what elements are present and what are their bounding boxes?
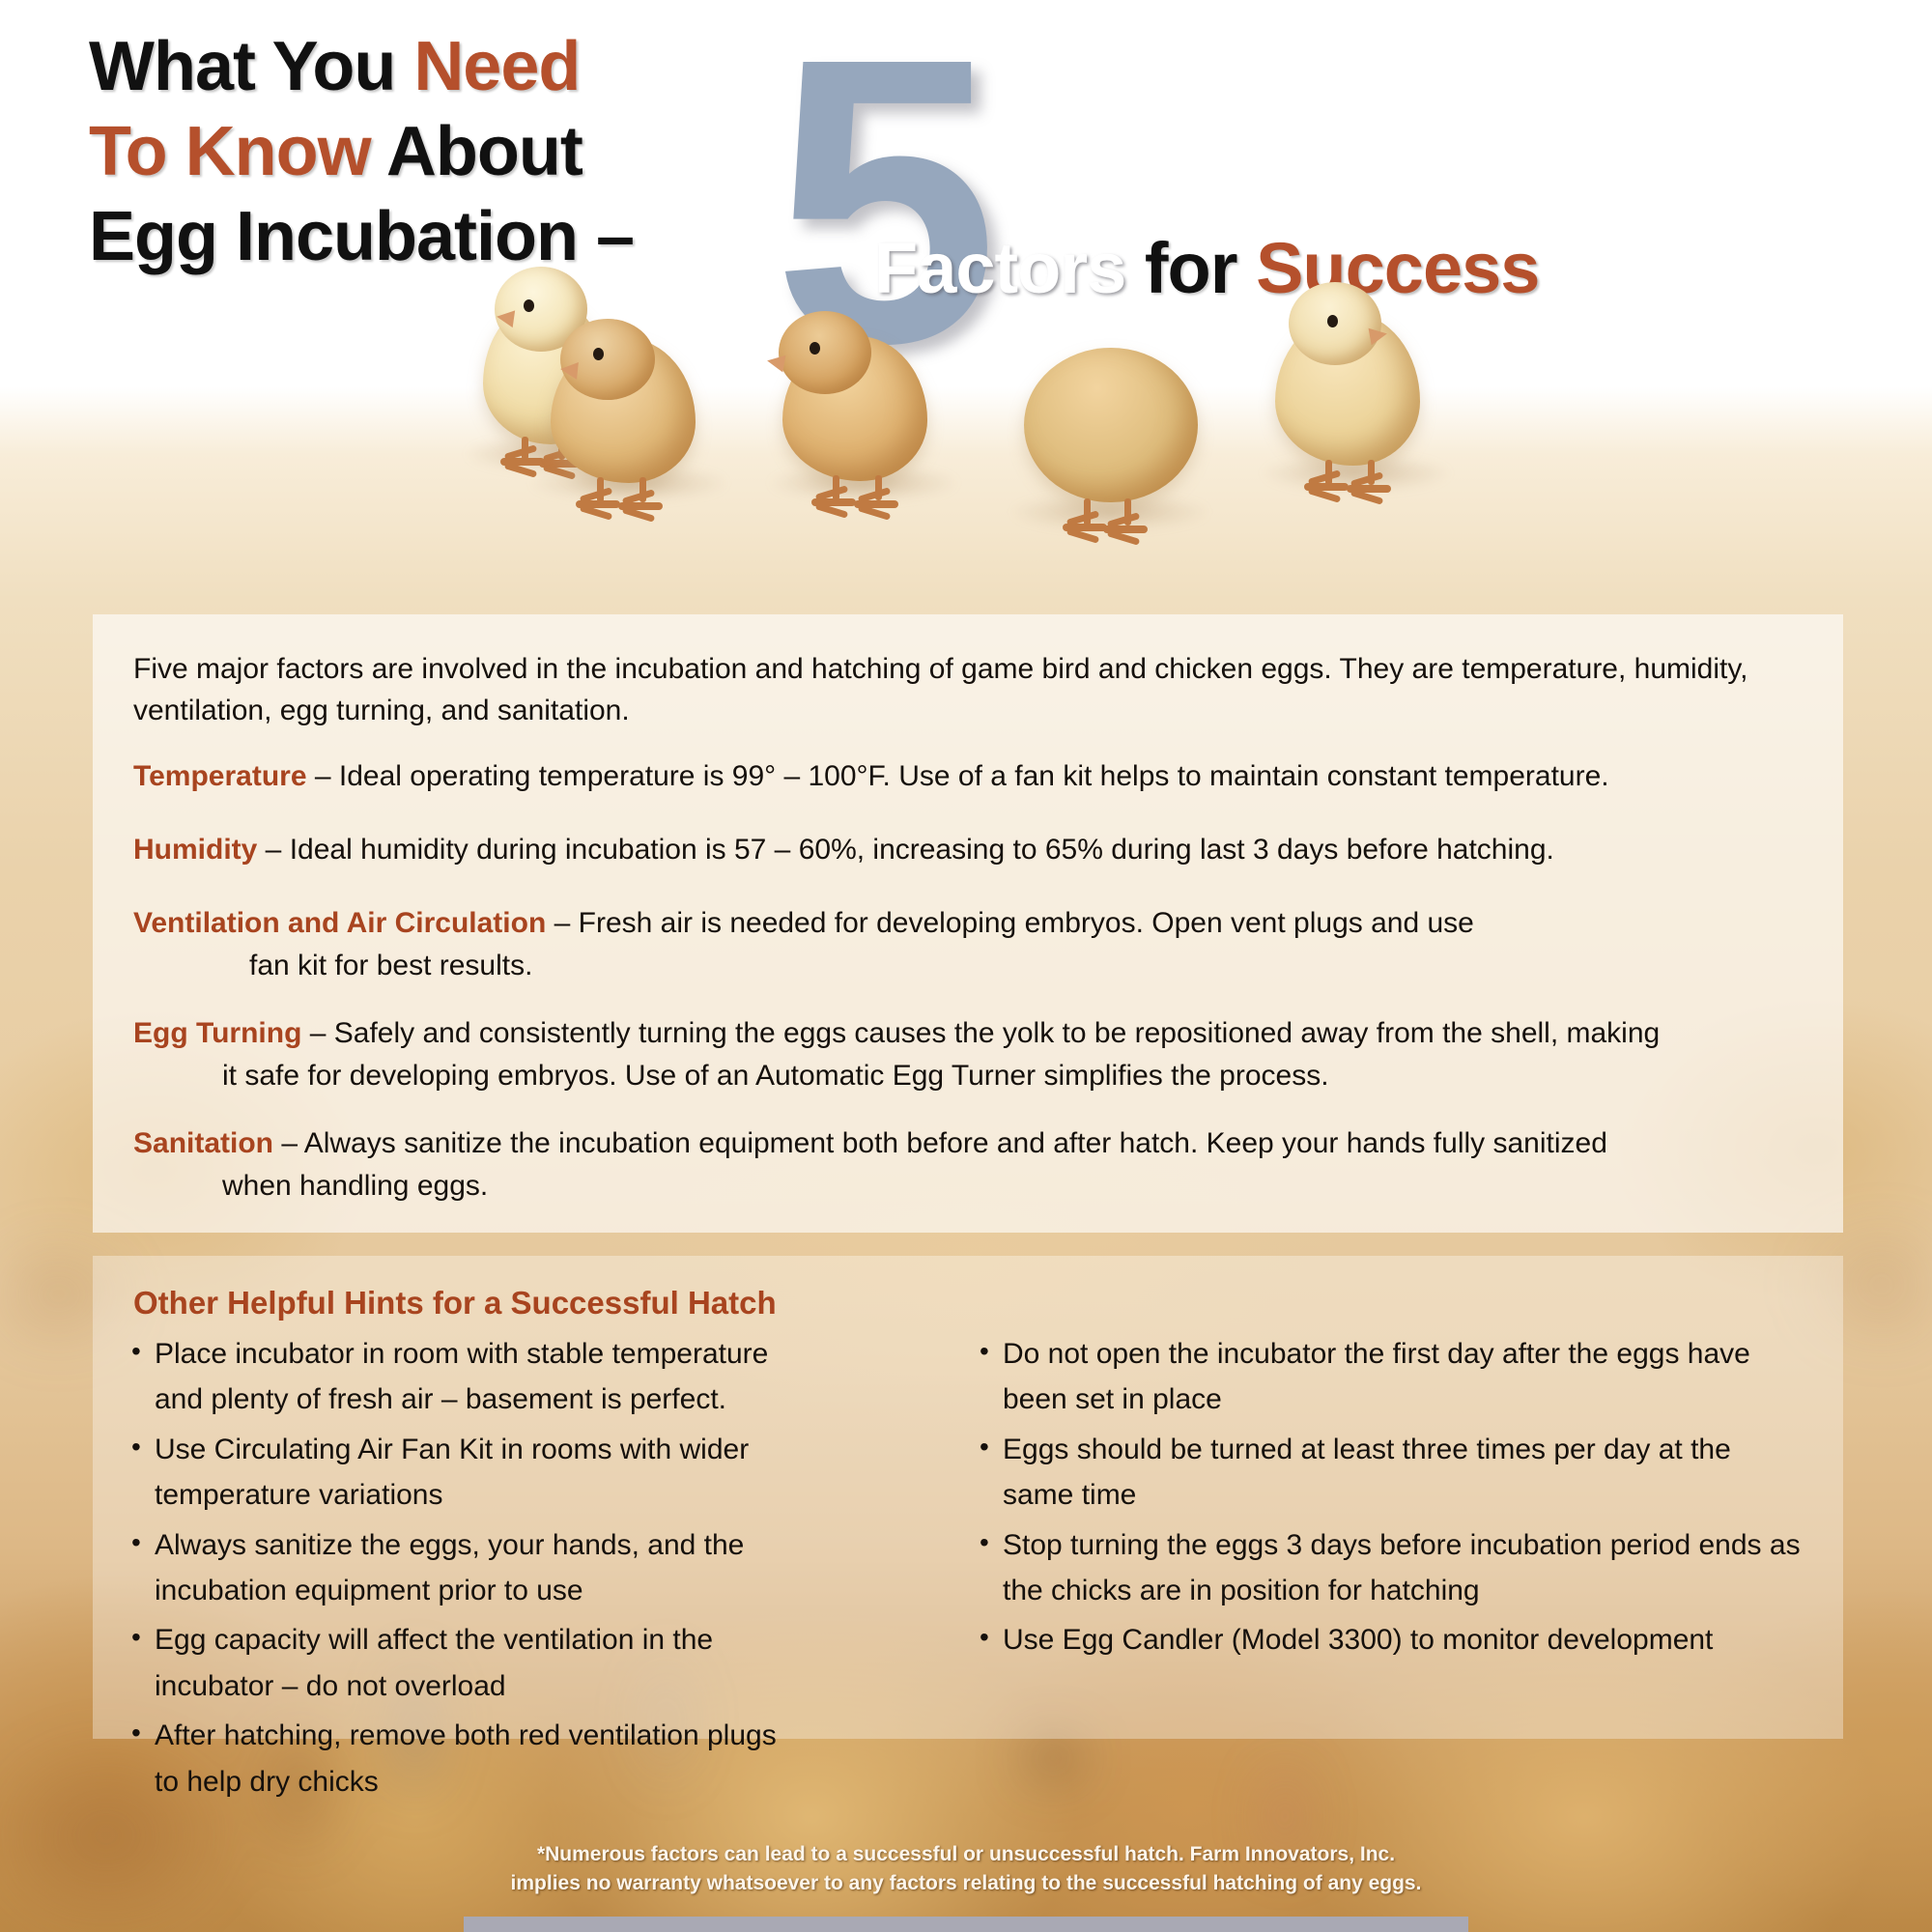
factor-temperature-text: Ideal operating temperature is 99° – 100… <box>339 760 1609 792</box>
list-item: Stop turning the eggs 3 days before incu… <box>978 1522 1808 1614</box>
list-item: Use Circulating Air Fan Kit in rooms wit… <box>129 1427 806 1519</box>
list-item: Egg capacity will affect the ventilation… <box>129 1617 806 1709</box>
footnote-disclaimer: *Numerous factors can lead to a successf… <box>0 1840 1932 1898</box>
factor-ventilation-text2: fan kit for best results. <box>133 945 1822 987</box>
bottom-bar <box>464 1917 1468 1932</box>
factor-ventilation-name: Ventilation and Air Circulation <box>133 907 546 939</box>
list-item: After hatching, remove both red ventilat… <box>129 1713 806 1804</box>
factor-egg-turning-text2: it safe for developing embryos. Use of a… <box>133 1055 1822 1097</box>
factor-temperature: Temperature – Ideal operating temperatur… <box>133 755 1822 798</box>
factor-egg-turning-dash: – <box>301 1017 333 1049</box>
factor-humidity-dash: – <box>257 834 289 866</box>
list-item: Eggs should be turned at least three tim… <box>978 1427 1808 1519</box>
list-item: Always sanitize the eggs, your hands, an… <box>129 1522 806 1614</box>
factor-sanitation-text2: when handling eggs. <box>133 1165 1822 1207</box>
factor-temperature-name: Temperature <box>133 760 307 792</box>
factor-egg-turning-text: Safely and consistently turning the eggs… <box>334 1017 1660 1049</box>
factor-sanitation-text: Always sanitize the incubation equipment… <box>304 1127 1607 1159</box>
poster-content: Five major factors are involved in the i… <box>0 0 1932 1932</box>
factor-sanitation-name: Sanitation <box>133 1127 273 1159</box>
intro-paragraph: Five major factors are involved in the i… <box>133 649 1814 731</box>
factor-humidity-name: Humidity <box>133 834 257 866</box>
list-item: Use Egg Candler (Model 3300) to monitor … <box>978 1617 1808 1662</box>
factor-ventilation: Ventilation and Air Circulation – Fresh … <box>133 902 1822 987</box>
hints-column-left: Place incubator in room with stable temp… <box>129 1331 806 1808</box>
footnote-line2: implies no warranty whatsoever to any fa… <box>0 1869 1932 1898</box>
hints-column-right: Do not open the incubator the first day … <box>978 1331 1808 1667</box>
factor-sanitation: Sanitation – Always sanitize the incubat… <box>133 1122 1822 1207</box>
factor-temperature-dash: – <box>307 760 339 792</box>
footnote-line1: *Numerous factors can lead to a successf… <box>0 1840 1932 1869</box>
factor-humidity: Humidity – Ideal humidity during incubat… <box>133 829 1822 871</box>
poster-root: 5 What You Need To Know About Egg Incuba… <box>0 0 1932 1932</box>
hints-title: Other Helpful Hints for a Successful Hat… <box>133 1285 777 1321</box>
factor-ventilation-dash: – <box>546 907 578 939</box>
factor-ventilation-text: Fresh air is needed for developing embry… <box>579 907 1474 939</box>
factor-egg-turning-name: Egg Turning <box>133 1017 301 1049</box>
list-item: Place incubator in room with stable temp… <box>129 1331 806 1423</box>
factor-humidity-text: Ideal humidity during incubation is 57 –… <box>290 834 1554 866</box>
factor-egg-turning: Egg Turning – Safely and consistently tu… <box>133 1012 1822 1097</box>
list-item: Do not open the incubator the first day … <box>978 1331 1808 1423</box>
factor-sanitation-dash: – <box>273 1127 304 1159</box>
